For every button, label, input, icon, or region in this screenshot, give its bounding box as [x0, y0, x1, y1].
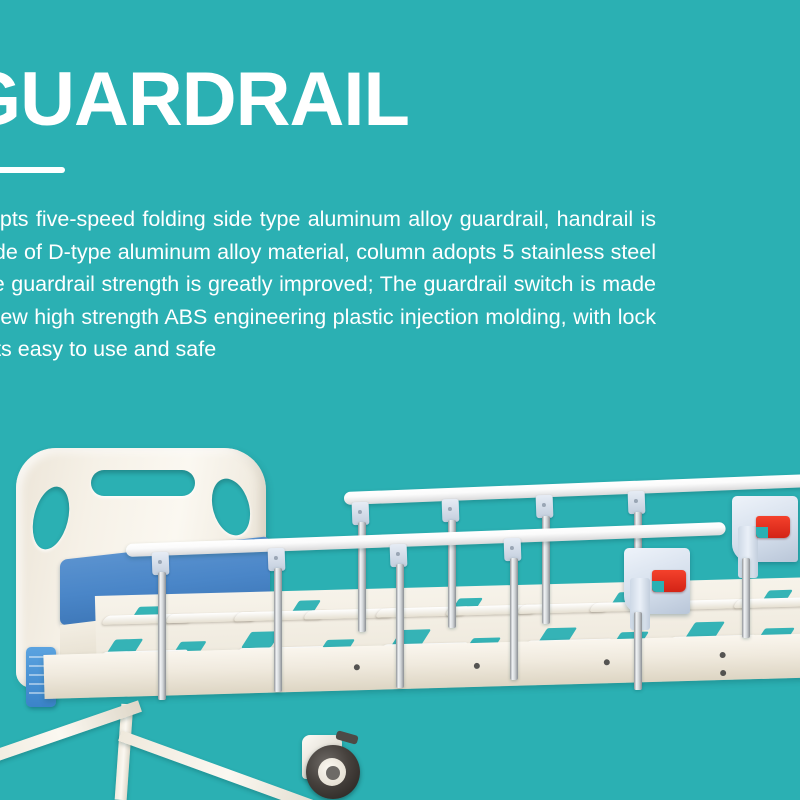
upper-rail-clamp — [536, 495, 554, 519]
promo-banner: GUARDRAIL adopts five-speed folding side… — [0, 0, 800, 800]
headboard-handle-slot — [91, 470, 195, 496]
headboard-oval-cutout-right — [206, 474, 257, 540]
guardrail-post — [274, 568, 282, 692]
guardrail-post — [510, 558, 518, 680]
upper-release-lever[interactable] — [756, 516, 790, 538]
guardrail-post — [742, 558, 750, 638]
guardrail-post — [396, 564, 404, 688]
title-divider — [0, 167, 65, 173]
guardrail-post — [158, 572, 166, 700]
guardrail-post — [634, 612, 642, 690]
upper-rail-clamp — [628, 491, 646, 515]
caster-hub-cap — [326, 766, 340, 780]
upper-rail-clamp — [442, 499, 460, 523]
page-title: GUARDRAIL — [0, 62, 409, 138]
product-photo — [0, 400, 800, 800]
description-text: adopts five-speed folding side type alum… — [0, 203, 656, 366]
description-paragraph: adopts five-speed folding side type alum… — [0, 203, 656, 366]
headboard-oval-cutout-left — [27, 483, 75, 553]
lower-release-lever[interactable] — [652, 570, 686, 592]
